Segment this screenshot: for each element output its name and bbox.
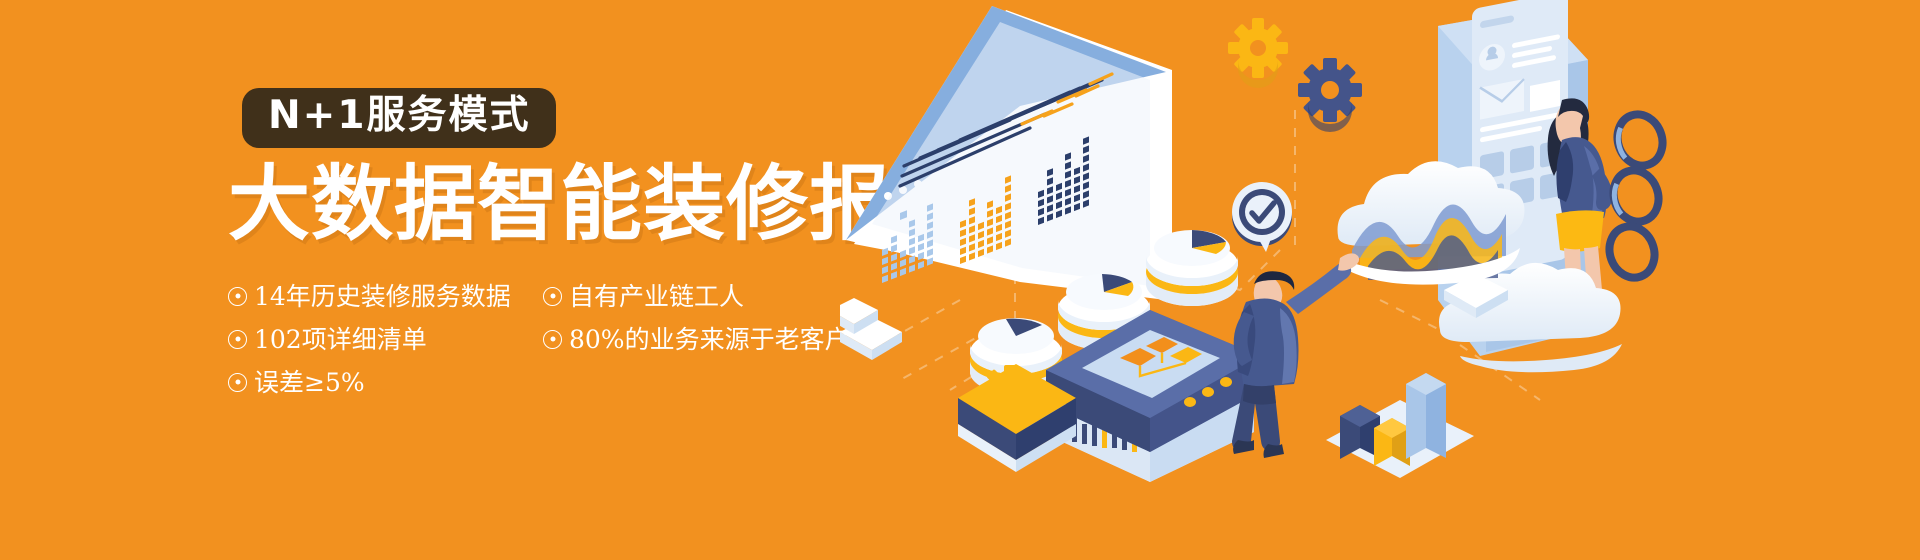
- list-item-label: 误差≥5%: [254, 370, 365, 395]
- circled-dot-icon: [543, 287, 562, 306]
- list-item-label: 80%的业务来源于老客户: [569, 327, 850, 352]
- list-item-label: 14年历史装修服务数据: [254, 284, 511, 309]
- list-item: 14年历史装修服务数据: [228, 284, 543, 309]
- bar-chart-columns-3d: [1326, 373, 1474, 478]
- list-item-label: 102项详细清单: [254, 327, 427, 352]
- circled-dot-icon: [543, 330, 562, 349]
- check-badge-icon: [1232, 182, 1292, 252]
- gear-yellow-icon: [1228, 18, 1288, 88]
- list-item-label: 自有产业链工人: [569, 284, 744, 309]
- circled-dot-icon: [228, 373, 247, 392]
- promo-banner: N+1服务模式 大数据智能装修报价 14年历史装修服务数据 自有产业链工人 10…: [0, 0, 1920, 560]
- circled-dot-icon: [228, 330, 247, 349]
- gear-navy-icon: [1298, 58, 1362, 132]
- service-model-badge: N+1服务模式: [242, 88, 556, 148]
- circled-dot-icon: [228, 287, 247, 306]
- list-item: 误差≥5%: [228, 370, 543, 395]
- list-item: 102项详细清单: [228, 327, 543, 352]
- isometric-big-data-illustration: [840, 0, 1920, 560]
